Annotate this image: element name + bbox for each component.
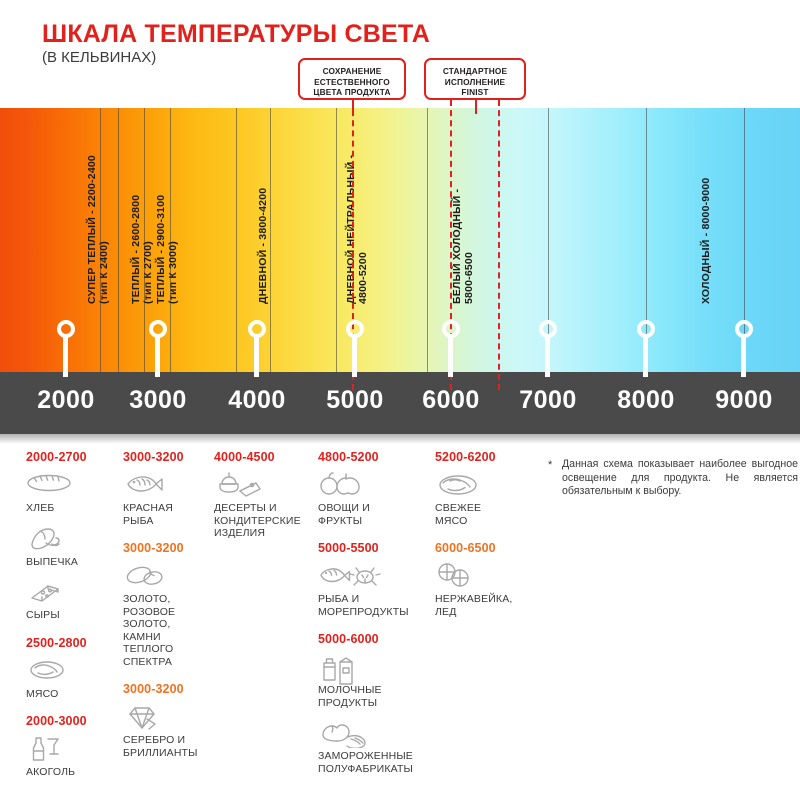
band-label-main: БЕЛЫЙ ХОЛОДНЫЙ - xyxy=(451,189,463,304)
cheese-icon xyxy=(26,577,118,607)
category-range-label: 6000-6500 xyxy=(435,541,535,555)
band-divider xyxy=(427,108,428,372)
category-item: КРАСНАЯ РЫБА xyxy=(123,470,211,527)
category-range-label: 3000-3200 xyxy=(123,541,211,555)
ice-icon xyxy=(435,561,535,591)
category-group: 3000-3200СЕРЕБРО И БРИЛЛИАНТЫ xyxy=(123,682,211,759)
category-column-1: 2000-2700ХЛЕБВЫПЕЧКАСЫРЫ2500-2800МЯСО200… xyxy=(26,450,118,793)
footnote-marker: * xyxy=(548,458,562,499)
callout-line: ЕСТЕСТВЕННОГО xyxy=(300,77,404,88)
category-item-label: КРАСНАЯ РЫБА xyxy=(123,502,211,527)
page-subtitle: (В КЕЛЬВИНАХ) xyxy=(42,49,156,66)
category-range-label: 5000-6000 xyxy=(318,632,422,646)
category-column-3: 4000-4500ДЕСЕРТЫ И КОНДИТЕРСКИЕ ИЗДЕЛИЯ xyxy=(214,450,310,554)
category-group: 5000-5500РЫБА И МОРЕПРОДУКТЫ xyxy=(318,541,422,618)
category-item: СЕРЕБРО И БРИЛЛИАНТЫ xyxy=(123,702,211,759)
gradient-fill xyxy=(0,108,800,372)
category-item-label: АКОГОЛЬ xyxy=(26,766,118,779)
category-item-label: МЯСО xyxy=(26,688,118,701)
band-label-sub: (тип К 2700) xyxy=(142,195,154,304)
category-item: ЗОЛОТО, РОЗОВОЕ ЗОЛОТО, КАМНИ ТЕПЛОГО СП… xyxy=(123,561,211,668)
category-item: СЫРЫ xyxy=(26,577,118,622)
band-label-main: ДНЕВНОЙ НЕЙТРАЛЬНЫЙ - xyxy=(345,155,357,304)
category-group: 6000-6500НЕРЖАВЕЙКА, ЛЕД xyxy=(435,541,535,618)
band-label: ТЕПЛЫЙ - 2900-3100(тип К 3000) xyxy=(155,195,179,304)
band-divider xyxy=(336,108,337,372)
bottle-glass-icon xyxy=(26,734,118,764)
meat-icon xyxy=(26,656,118,686)
category-item-label: СЫРЫ xyxy=(26,609,118,622)
scale-pin-marker xyxy=(735,320,753,380)
callout-line: ИСПОЛНЕНИЕ xyxy=(426,77,524,88)
footnote-text: Данная схема показывает наиболее выгодно… xyxy=(562,458,798,499)
scale-pin-marker xyxy=(57,320,75,380)
callout-box-2: СТАНДАРТНОЕИСПОЛНЕНИЕFINIST xyxy=(424,58,526,100)
product-categories: 2000-2700ХЛЕБВЫПЕЧКАСЫРЫ2500-2800МЯСО200… xyxy=(0,450,800,800)
scale-bar-shadow xyxy=(0,434,800,444)
category-group: 2500-2800МЯСО xyxy=(26,636,118,701)
callout-line: ЦВЕТА ПРОДУКТА xyxy=(300,87,404,98)
category-item: МЯСО xyxy=(26,656,118,701)
kelvin-tick-3000: 3000 xyxy=(129,386,187,415)
category-item: АКОГОЛЬ xyxy=(26,734,118,779)
page-title: ШКАЛА ТЕМПЕРАТУРЫ СВЕТА xyxy=(42,20,430,49)
callout-box-1: СОХРАНЕНИЕЕСТЕСТВЕННОГОЦВЕТА ПРОДУКТА xyxy=(298,58,406,100)
steak-icon xyxy=(435,470,535,500)
category-item-label: ОВОЩИ И ФРУКТЫ xyxy=(318,502,422,527)
band-divider xyxy=(270,108,271,372)
band-label: ДНЕВНОЙ - 3800-4200 xyxy=(257,188,269,304)
band-label-main: ТЕПЛЫЙ - 2600-2800 xyxy=(130,195,142,304)
category-item: ХЛЕБ xyxy=(26,470,118,515)
scale-pin-marker xyxy=(442,320,460,380)
category-group: 3000-3200КРАСНАЯ РЫБА xyxy=(123,450,211,527)
category-group: 4000-4500ДЕСЕРТЫ И КОНДИТЕРСКИЕ ИЗДЕЛИЯ xyxy=(214,450,310,540)
category-range-label: 4000-4500 xyxy=(214,450,310,464)
category-range-label: 5200-6200 xyxy=(435,450,535,464)
temperature-gradient-strip: СУПЕР ТЕПЛЫЙ - 2200-2400(тип К 2400)ТЕПЛ… xyxy=(0,108,800,372)
dairy-icon xyxy=(318,652,422,682)
band-label-sub: 5800-6500 xyxy=(463,189,475,304)
category-group: 5000-6000МОЛОЧНЫЕ ПРОДУКТЫЗАМОРОЖЕННЫЕ П… xyxy=(318,632,422,775)
pin-stem xyxy=(63,335,68,377)
scale-pin-marker xyxy=(637,320,655,380)
kelvin-tick-4000: 4000 xyxy=(228,386,286,415)
band-label: БЕЛЫЙ ХОЛОДНЫЙ -5800-6500 xyxy=(451,189,475,304)
category-range-label: 2000-2700 xyxy=(26,450,118,464)
callout-line: FINIST xyxy=(426,87,524,98)
band-label: СУПЕР ТЕПЛЫЙ - 2200-2400(тип К 2400) xyxy=(86,155,110,304)
band-label-sub: (тип К 3000) xyxy=(167,195,179,304)
category-item-label: ВЫПЕЧКА xyxy=(26,556,118,569)
category-item: СВЕЖЕЕ МЯСО xyxy=(435,470,535,527)
pin-stem xyxy=(352,335,357,377)
category-item-label: СЕРЕБРО И БРИЛЛИАНТЫ xyxy=(123,734,211,759)
category-item-label: МОЛОЧНЫЕ ПРОДУКТЫ xyxy=(318,684,422,709)
category-column-5: 5200-6200СВЕЖЕЕ МЯСО6000-6500НЕРЖАВЕЙКА,… xyxy=(435,450,535,632)
band-label-main: СУПЕР ТЕПЛЫЙ - 2200-2400 xyxy=(86,155,98,304)
band-label-main: ТЕПЛЫЙ - 2900-3100 xyxy=(155,195,167,304)
kelvin-tick-6000: 6000 xyxy=(422,386,480,415)
category-item: НЕРЖАВЕЙКА, ЛЕД xyxy=(435,561,535,618)
category-item-label: РЫБА И МОРЕПРОДУКТЫ xyxy=(318,593,422,618)
category-item-label: ЗОЛОТО, РОЗОВОЕ ЗОЛОТО, КАМНИ ТЕПЛОГО СП… xyxy=(123,593,211,668)
category-range-label: 5000-5500 xyxy=(318,541,422,555)
category-item-label: ХЛЕБ xyxy=(26,502,118,515)
kelvin-tick-2000: 2000 xyxy=(37,386,95,415)
pin-stem xyxy=(741,335,746,377)
callout-leg-2 xyxy=(475,100,477,114)
seafood-icon xyxy=(318,561,422,591)
category-item-label: ЗАМОРОЖЕННЫЕ ПОЛУФАБРИКАТЫ xyxy=(318,750,422,775)
category-range-label: 3000-3200 xyxy=(123,682,211,696)
pin-stem xyxy=(545,335,550,377)
category-item: ДЕСЕРТЫ И КОНДИТЕРСКИЕ ИЗДЕЛИЯ xyxy=(214,470,310,540)
category-range-label: 2500-2800 xyxy=(26,636,118,650)
category-item: МОЛОЧНЫЕ ПРОДУКТЫ xyxy=(318,652,422,709)
kelvin-scale-bar xyxy=(0,372,800,434)
bread-icon xyxy=(26,470,118,500)
infographic-page: ШКАЛА ТЕМПЕРАТУРЫ СВЕТА (В КЕЛЬВИНАХ) СО… xyxy=(0,0,800,800)
kelvin-tick-8000: 8000 xyxy=(617,386,675,415)
category-group: 3000-3200ЗОЛОТО, РОЗОВОЕ ЗОЛОТО, КАМНИ Т… xyxy=(123,541,211,668)
kelvin-tick-9000: 9000 xyxy=(715,386,773,415)
category-item: ВЫПЕЧКА xyxy=(26,524,118,569)
frozen-icon xyxy=(318,718,422,748)
kelvin-tick-7000: 7000 xyxy=(519,386,577,415)
category-group: 5200-6200СВЕЖЕЕ МЯСО xyxy=(435,450,535,527)
band-label: ТЕПЛЫЙ - 2600-2800(тип К 2700) xyxy=(130,195,154,304)
category-item-label: ДЕСЕРТЫ И КОНДИТЕРСКИЕ ИЗДЕЛИЯ xyxy=(214,502,310,540)
category-item-label: СВЕЖЕЕ МЯСО xyxy=(435,502,535,527)
scale-pin-marker xyxy=(346,320,364,380)
scale-pin-marker xyxy=(248,320,266,380)
category-group: 2000-3000АКОГОЛЬ xyxy=(26,714,118,779)
category-column-4: 4800-5200ОВОЩИ И ФРУКТЫ5000-5500РЫБА И М… xyxy=(318,450,422,789)
fish-icon xyxy=(123,470,211,500)
scale-pin-marker xyxy=(149,320,167,380)
band-label-main: ДНЕВНОЙ - 3800-4200 xyxy=(257,188,269,304)
cake-icon xyxy=(214,470,310,500)
rings-icon xyxy=(123,561,211,591)
band-label-main: ХОЛОДНЫЙ - 8000-9000 xyxy=(700,178,712,304)
category-range-label: 2000-3000 xyxy=(26,714,118,728)
band-divider xyxy=(236,108,237,372)
diamond-icon xyxy=(123,702,211,732)
band-label: ДНЕВНОЙ НЕЙТРАЛЬНЫЙ -4800-5200 xyxy=(345,155,369,304)
scale-pin-marker xyxy=(539,320,557,380)
band-label: ХОЛОДНЫЙ - 8000-9000 xyxy=(700,178,712,304)
band-divider xyxy=(118,108,119,372)
category-column-2: 3000-3200КРАСНАЯ РЫБА3000-3200ЗОЛОТО, РО… xyxy=(123,450,211,773)
band-label-sub: 4800-5200 xyxy=(357,155,369,304)
dashed-marker-line xyxy=(498,100,500,390)
category-item: ОВОЩИ И ФРУКТЫ xyxy=(318,470,422,527)
fruit-icon xyxy=(318,470,422,500)
category-item: ЗАМОРОЖЕННЫЕ ПОЛУФАБРИКАТЫ xyxy=(318,718,422,775)
category-group: 2000-2700ХЛЕБВЫПЕЧКАСЫРЫ xyxy=(26,450,118,622)
category-group: 4800-5200ОВОЩИ И ФРУКТЫ xyxy=(318,450,422,527)
pin-stem xyxy=(254,335,259,377)
band-label-sub: (тип К 2400) xyxy=(98,155,110,304)
pastry-icon xyxy=(26,524,118,554)
callout-line: СОХРАНЕНИЕ xyxy=(300,66,404,77)
pin-stem xyxy=(155,335,160,377)
pin-stem xyxy=(448,335,453,377)
footnote: * Данная схема показывает наиболее выгод… xyxy=(548,458,798,499)
category-range-label: 3000-3200 xyxy=(123,450,211,464)
callout-line: СТАНДАРТНОЕ xyxy=(426,66,524,77)
pin-stem xyxy=(643,335,648,377)
category-item-label: НЕРЖАВЕЙКА, ЛЕД xyxy=(435,593,535,618)
kelvin-tick-5000: 5000 xyxy=(326,386,384,415)
category-range-label: 4800-5200 xyxy=(318,450,422,464)
category-item: РЫБА И МОРЕПРОДУКТЫ xyxy=(318,561,422,618)
